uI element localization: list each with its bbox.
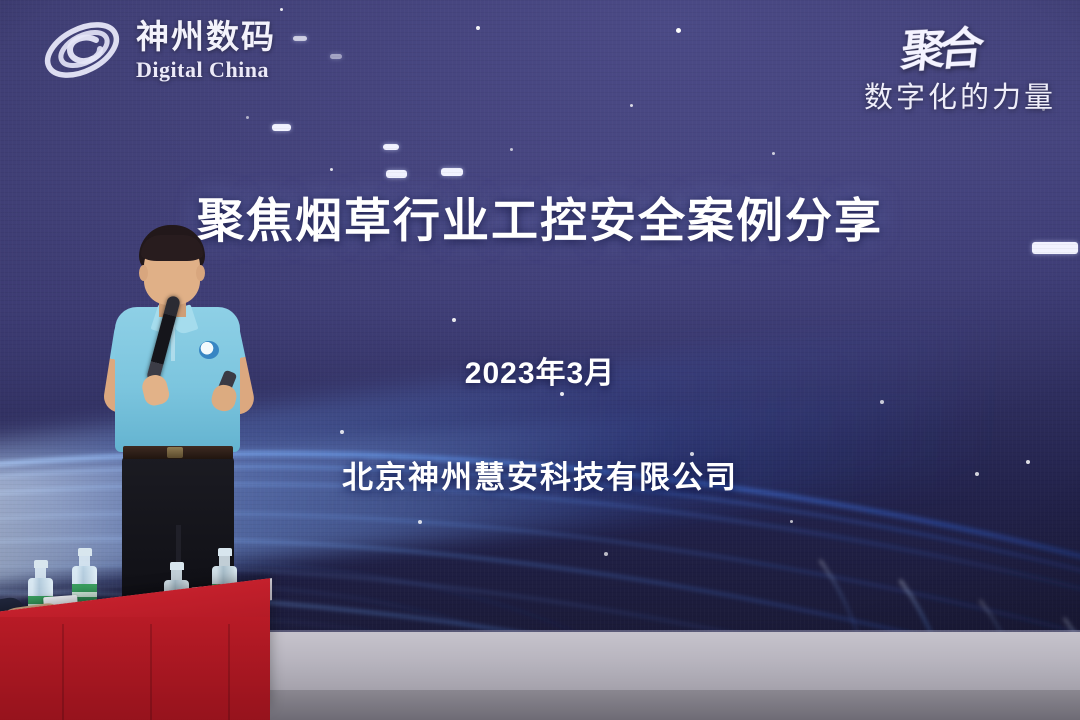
particle-dot (340, 430, 344, 434)
particle-dot (280, 8, 283, 11)
bottle-cap (78, 548, 92, 556)
table-cloth-fold (150, 624, 152, 720)
slogan-calligraphy: 聚合 (898, 12, 981, 80)
particle-dot (604, 552, 608, 556)
bottle-cap (170, 562, 184, 570)
particle-dot (476, 26, 480, 30)
bottle-neck (35, 568, 46, 578)
particle-dash (386, 170, 407, 178)
particle-dot (510, 148, 513, 151)
presenter-belt-buckle (167, 447, 183, 458)
bottle-cap (218, 548, 232, 556)
presenter-shirt-logo (199, 341, 219, 359)
presenter-hair-fringe (141, 235, 203, 261)
particle-dot (560, 392, 564, 396)
slogan-subtitle: 数字化的力量 (864, 74, 1056, 116)
particle-dot (246, 116, 249, 119)
bottle-neck (219, 556, 230, 566)
particle-dash (383, 144, 399, 150)
brand-name-en: Digital China (136, 59, 276, 81)
particle-dot (790, 520, 793, 523)
particle-dash (330, 54, 342, 59)
particle-dash (293, 36, 307, 41)
particle-dot (418, 520, 422, 524)
particle-dot (452, 318, 456, 322)
brand-name-cn: 神州数码 (136, 20, 276, 53)
bottle-neck (171, 570, 182, 580)
table-cloth-fold (62, 624, 64, 720)
photo-canvas: 神州数码 Digital China 聚合 数字化的力量 聚焦烟草行业工控安全案… (0, 0, 1080, 720)
bottle-neck (79, 556, 90, 566)
particle-dot (880, 400, 884, 404)
particle-dot (676, 28, 681, 33)
presenter-ear-right (196, 265, 205, 281)
presenter-ear-left (139, 265, 148, 281)
digital-china-spiral-logo (40, 18, 124, 82)
particle-dash (272, 124, 291, 131)
bottle-cap (34, 560, 48, 568)
particle-dot (330, 168, 333, 171)
brand-logo-block: 神州数码 Digital China (40, 18, 276, 82)
particle-dot (630, 104, 633, 107)
particle-dot (772, 152, 775, 155)
event-slogan-block: 聚合 数字化的力量 (864, 14, 1056, 116)
table-cloth-fold (228, 624, 230, 720)
particle-dash (441, 168, 463, 176)
